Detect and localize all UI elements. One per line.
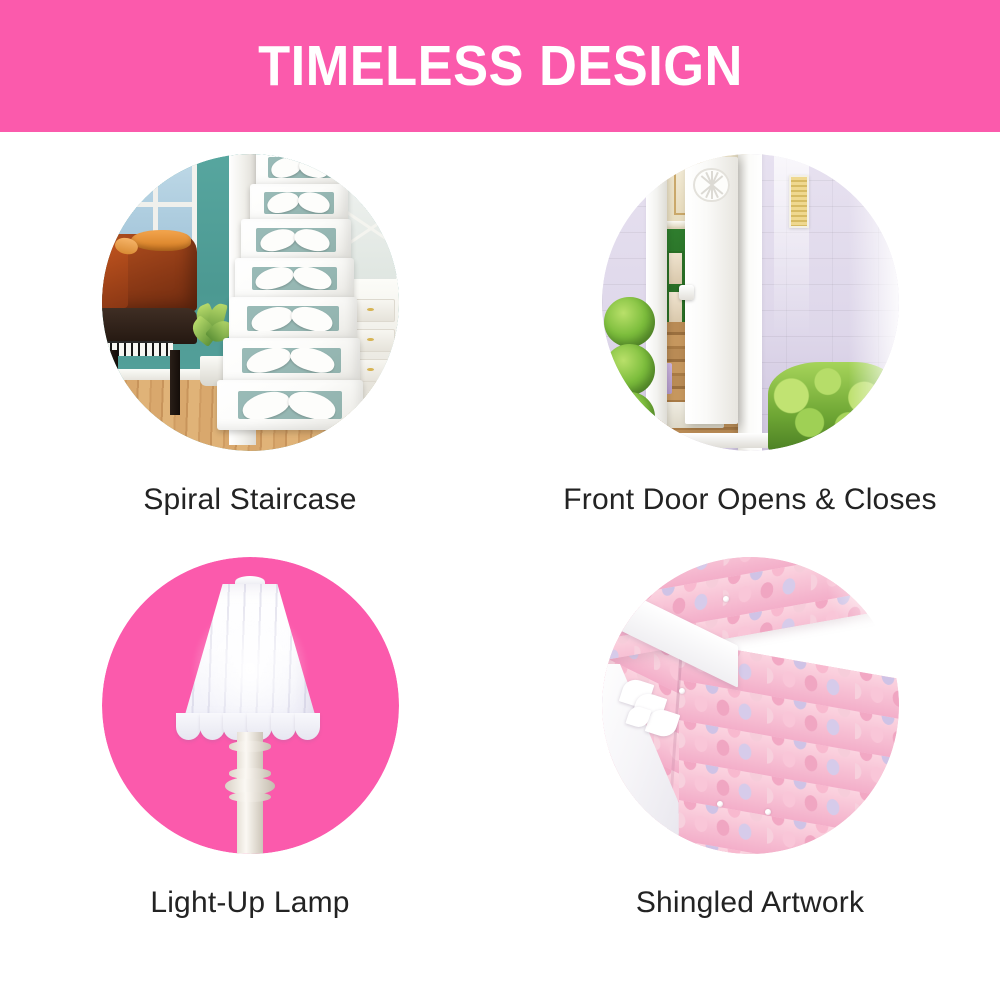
feature-caption-shingled-artwork: Shingled Artwork bbox=[636, 886, 864, 920]
page-title: TIMELESS DESIGN bbox=[258, 38, 743, 95]
cat-figure bbox=[131, 230, 190, 251]
topiary-plant bbox=[604, 297, 654, 446]
front-door-illustration bbox=[602, 154, 899, 451]
feature-caption-front-door: Front Door Opens & Closes bbox=[563, 483, 936, 517]
feature-card-front-door: Front Door Opens & Closes bbox=[520, 154, 980, 564]
door-knob bbox=[679, 285, 694, 300]
shingled-roof-illustration bbox=[602, 557, 899, 854]
feature-image-light-up-lamp bbox=[102, 557, 399, 854]
feature-image-shingled-artwork bbox=[602, 557, 899, 854]
feature-caption-light-up-lamp: Light-Up Lamp bbox=[150, 886, 349, 920]
feature-card-light-up-lamp: Light-Up Lamp bbox=[20, 557, 480, 967]
front-door-panel bbox=[685, 157, 738, 424]
piano bbox=[102, 308, 197, 344]
feature-image-spiral-staircase bbox=[102, 154, 399, 451]
feature-graphic-page: TIMELESS DESIGN bbox=[0, 0, 1000, 1000]
feature-image-front-door bbox=[602, 154, 899, 451]
feature-card-spiral-staircase: Spiral Staircase bbox=[20, 154, 480, 564]
lamp-illustration bbox=[102, 557, 399, 854]
spiral-staircase-illustration bbox=[102, 154, 399, 451]
feature-card-shingled-artwork: Shingled Artwork bbox=[520, 557, 980, 967]
lamp-glow bbox=[191, 605, 310, 724]
feature-caption-spiral-staircase: Spiral Staircase bbox=[143, 483, 356, 517]
feature-grid: Spiral Staircase bbox=[0, 132, 1000, 1000]
header-band: TIMELESS DESIGN bbox=[0, 0, 1000, 132]
